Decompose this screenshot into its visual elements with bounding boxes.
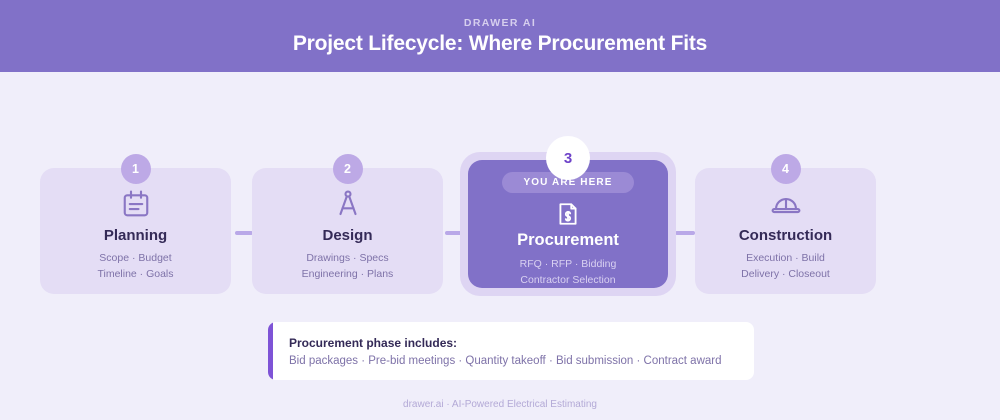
- stage-number-badge: 4: [771, 154, 801, 184]
- drafting-compass-icon: [333, 187, 363, 221]
- stage-number-badge-active: 3: [546, 136, 590, 180]
- stage-card-body: Planning Scope · Budget Timeline · Goals: [40, 168, 231, 294]
- callout-body: Procurement phase includes: Bid packages…: [273, 336, 738, 367]
- stage-card-planning[interactable]: 1 Planning Scope · Budget Timeline · Goa…: [40, 168, 231, 294]
- stage-subtitle-line1: Drawings · Specs: [306, 252, 388, 264]
- stage-subtitle-line2: Timeline · Goals: [97, 268, 173, 280]
- procurement-callout: Procurement phase includes: Bid packages…: [268, 322, 754, 380]
- stage-title: Procurement: [517, 231, 619, 250]
- stage-subtitle: Scope · Budget Timeline · Goals: [97, 250, 173, 282]
- lifecycle-stage-row: 1 Planning Scope · Budget Timeline · Goa…: [0, 118, 1000, 303]
- stage-title: Construction: [739, 227, 832, 244]
- stage-subtitle: Execution · Build Delivery · Closeout: [741, 250, 830, 282]
- page-title: Project Lifecycle: Where Procurement Fit…: [293, 32, 707, 56]
- stage-subtitle-line1: Execution · Build: [746, 252, 825, 264]
- hard-hat-icon: [771, 187, 801, 221]
- stage-card-body: Construction Execution · Build Delivery …: [695, 168, 876, 294]
- stage-title: Planning: [104, 227, 167, 244]
- stage-number-badge: 1: [121, 154, 151, 184]
- connector-1-2: [235, 231, 253, 235]
- calendar-clipboard-icon: [121, 187, 151, 221]
- stage-subtitle-line2: Delivery · Closeout: [741, 268, 830, 280]
- callout-text: Bid packages · Pre-bid meetings · Quanti…: [289, 355, 722, 367]
- stage-subtitle: Drawings · Specs Engineering · Plans: [302, 250, 394, 282]
- brand-eyebrow: DRAWER AI: [464, 17, 536, 29]
- stage-number-badge: 2: [333, 154, 363, 184]
- stage-card-body: Design Drawings · Specs Engineering · Pl…: [252, 168, 443, 294]
- page-header: DRAWER AI Project Lifecycle: Where Procu…: [0, 0, 1000, 72]
- stage-subtitle-line1: RFQ · RFP · Bidding: [520, 258, 617, 270]
- stage-subtitle-line2: Contractor Selection: [520, 274, 615, 286]
- callout-title: Procurement phase includes:: [289, 336, 722, 350]
- stage-title: Design: [322, 227, 372, 244]
- stage-card-construction[interactable]: 4 Construction Execution · Build Deliver…: [695, 168, 876, 294]
- stage-card-design[interactable]: 2 Design Drawings · Specs Engineering · …: [252, 168, 443, 294]
- stage-card-procurement[interactable]: 3 YOU ARE HERE Procurement RFQ · RFP · B…: [460, 152, 676, 296]
- stage-subtitle: RFQ · RFP · Bidding Contractor Selection: [520, 256, 617, 288]
- stage-subtitle-line1: Scope · Budget: [99, 252, 171, 264]
- invoice-dollar-icon: [555, 201, 581, 227]
- connector-3-4: [675, 231, 695, 235]
- page-footer: drawer.ai · AI-Powered Electrical Estima…: [0, 399, 1000, 410]
- stage-subtitle-line2: Engineering · Plans: [302, 268, 394, 280]
